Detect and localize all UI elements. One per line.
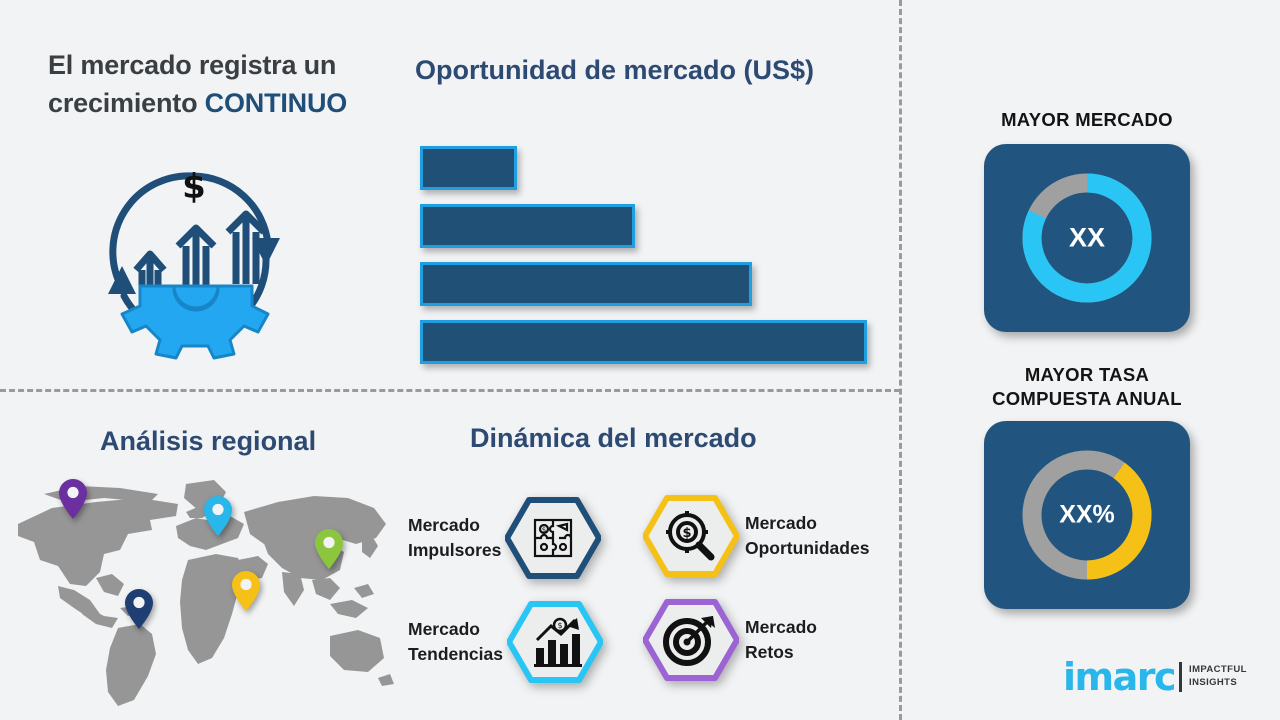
pin-north-america[interactable]: [58, 478, 88, 520]
dynamics-label-line1: Mercado: [745, 617, 817, 637]
logo-wordmark: imarc: [1063, 660, 1175, 694]
logo-divider: [1179, 662, 1182, 692]
divider-vertical: [899, 0, 902, 720]
dynamics-label-line1: Mercado: [408, 515, 480, 535]
headline-line1: El mercado registra un: [48, 50, 336, 80]
dynamics-label-line1: Mercado: [745, 513, 817, 533]
dynamics-item-trends[interactable]: Mercado Tendencias $: [408, 600, 603, 684]
kpi-highest-cagr: MAYOR TASA COMPUESTA ANUAL XX%: [984, 363, 1190, 609]
headline-line2-accent: CONTINUO: [205, 88, 347, 118]
logo-tagline-line2: INSIGHTS: [1189, 677, 1237, 688]
growth-gear-arrows-icon: $: [78, 136, 310, 364]
pin-europe[interactable]: [203, 495, 233, 537]
headline-title: El mercado registra un crecimiento CONTI…: [48, 46, 408, 123]
dynamics-label-drivers: Mercado Impulsores: [408, 513, 501, 564]
puzzle-pieces-icon: $: [505, 496, 601, 580]
logo-tagline-line1: IMPACTFUL: [1189, 664, 1247, 675]
headline-line2-plain: crecimiento: [48, 88, 205, 118]
dynamics-label-challenges: Mercado Retos: [745, 615, 817, 666]
imarc-logo: imarc IMPACTFUL INSIGHTS: [1063, 660, 1247, 694]
bar-chart-bar: [420, 262, 752, 306]
dynamics-item-challenges[interactable]: Mercado Retos: [643, 598, 817, 682]
kpi-caption-highest-cagr: MAYOR TASA COMPUESTA ANUAL: [984, 363, 1190, 410]
kpi-caption-line: COMPUESTA ANUAL: [992, 388, 1182, 409]
kpi-value-highest-cagr: XX%: [984, 501, 1190, 530]
dynamics-label-line2: Tendencias: [408, 644, 503, 664]
dynamics-item-drivers[interactable]: Mercado Impulsores $: [408, 496, 601, 580]
svg-text:$: $: [542, 526, 546, 534]
kpi-caption-line: MAYOR MERCADO: [1001, 109, 1173, 130]
opportunity-bar-chart: [420, 146, 880, 356]
bar-chart-bar: [420, 146, 517, 190]
divider-horizontal: [0, 389, 900, 392]
pin-east-asia[interactable]: [314, 528, 344, 570]
section-title-dynamics: Dinámica del mercado: [470, 423, 757, 454]
bar-chart-bar: [420, 204, 635, 248]
svg-text:$: $: [182, 167, 206, 207]
logo-tagline: IMPACTFUL INSIGHTS: [1189, 664, 1247, 690]
infographic-canvas: El mercado registra un crecimiento CONTI…: [0, 0, 1280, 720]
magnifier-dollar-target-icon: $: [643, 494, 739, 578]
dynamics-label-line2: Retos: [745, 642, 794, 662]
section-title-opportunity: Oportunidad de mercado (US$): [415, 55, 814, 86]
growth-bar-chart-icon: $: [507, 600, 603, 684]
kpi-caption-line: MAYOR TASA: [1025, 364, 1149, 385]
dynamics-label-trends: Mercado Tendencias: [408, 617, 503, 668]
pin-south-america[interactable]: [124, 588, 154, 630]
kpi-card-largest-market: XX: [984, 144, 1190, 332]
section-title-regional: Análisis regional: [100, 426, 316, 457]
dynamics-label-line2: Impulsores: [408, 540, 501, 560]
dynamics-label-line1: Mercado: [408, 619, 480, 639]
dynamics-label-line2: Oportunidades: [745, 538, 869, 558]
kpi-card-highest-cagr: XX%: [984, 421, 1190, 609]
dynamics-item-opportunities[interactable]: $ Mercado Oportunidades: [643, 494, 869, 578]
kpi-value-largest-market: XX: [984, 222, 1190, 253]
svg-text:$: $: [557, 621, 562, 630]
svg-text:$: $: [682, 526, 691, 541]
kpi-largest-market: MAYOR MERCADO XX: [984, 108, 1190, 332]
bar-chart-bar: [420, 320, 867, 364]
dynamics-label-opportunities: Mercado Oportunidades: [745, 511, 869, 562]
pin-middle-east[interactable]: [231, 570, 261, 612]
kpi-caption-largest-market: MAYOR MERCADO: [984, 108, 1190, 132]
target-dart-icon: [643, 598, 739, 682]
